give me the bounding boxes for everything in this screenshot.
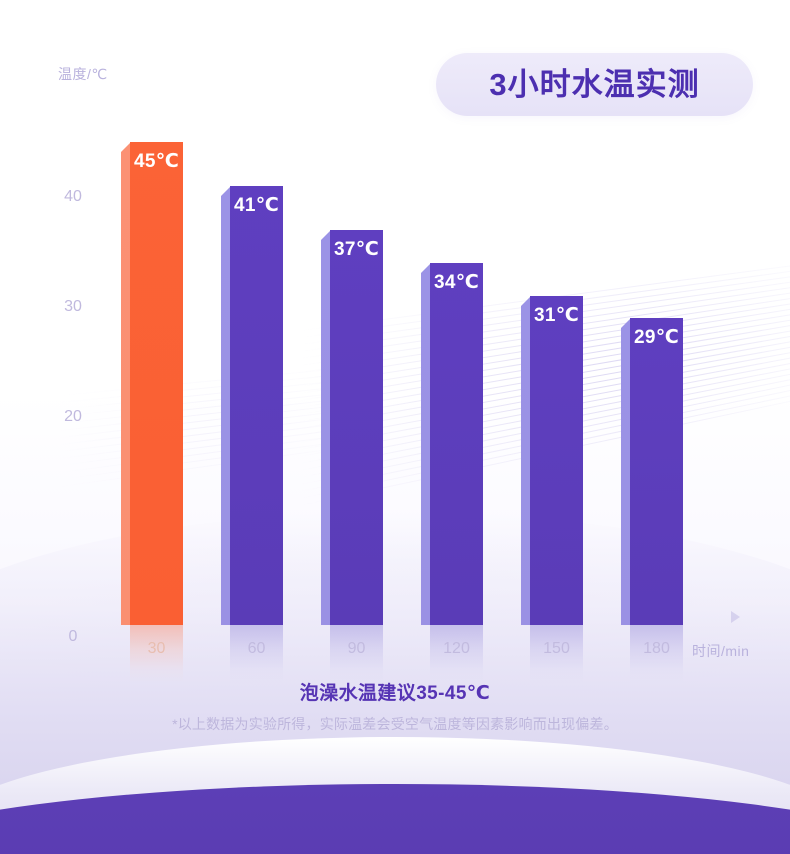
disclaimer-text: *以上数据为实验所得，实际温差会受空气温度等因素影响而出现偏差。 <box>0 714 790 734</box>
bar-front-face <box>130 142 183 625</box>
bar[interactable]: 31℃ <box>521 296 583 625</box>
bar-value-label: 45℃ <box>130 152 183 171</box>
x-axis-tick: 150 <box>530 640 583 658</box>
x-axis-tick: 90 <box>330 640 383 658</box>
bar-value-label: 41℃ <box>230 196 283 215</box>
y-axis-tick: 40 <box>55 188 91 206</box>
bar[interactable]: 34℃ <box>421 263 483 625</box>
bar-front-face <box>330 230 383 625</box>
bar-front-face <box>630 318 683 625</box>
bar-front-face <box>230 186 283 625</box>
bar-front-face <box>430 263 483 625</box>
bar-value-label: 37℃ <box>330 240 383 259</box>
bar[interactable]: 41℃ <box>221 186 283 625</box>
x-axis-tick: 60 <box>230 640 283 658</box>
bar-front-face <box>530 296 583 625</box>
x-axis-tick: 30 <box>130 640 183 658</box>
x-axis-tick: 120 <box>430 640 483 658</box>
bar[interactable]: 29℃ <box>621 318 683 625</box>
x-axis-label: 时间/min <box>692 641 749 661</box>
y-axis-tick: 20 <box>55 408 91 426</box>
bar[interactable]: 37℃ <box>321 230 383 625</box>
advice-text: 泡澡水温建议35-45℃ <box>0 678 790 705</box>
y-axis-tick: 30 <box>55 298 91 316</box>
bar[interactable]: 45℃ <box>121 142 183 625</box>
poster-stage: 3小时水温实测 温度/℃ 时间/min 403020045℃3041℃6037℃… <box>0 0 790 854</box>
play-triangle-icon <box>731 611 740 623</box>
y-axis-tick: 0 <box>55 628 91 646</box>
bar-value-label: 29℃ <box>630 328 683 347</box>
bar-value-label: 31℃ <box>530 306 583 325</box>
y-axis-label: 温度/℃ <box>58 64 108 84</box>
x-axis-tick: 180 <box>630 640 683 658</box>
bar-value-label: 34℃ <box>430 273 483 292</box>
